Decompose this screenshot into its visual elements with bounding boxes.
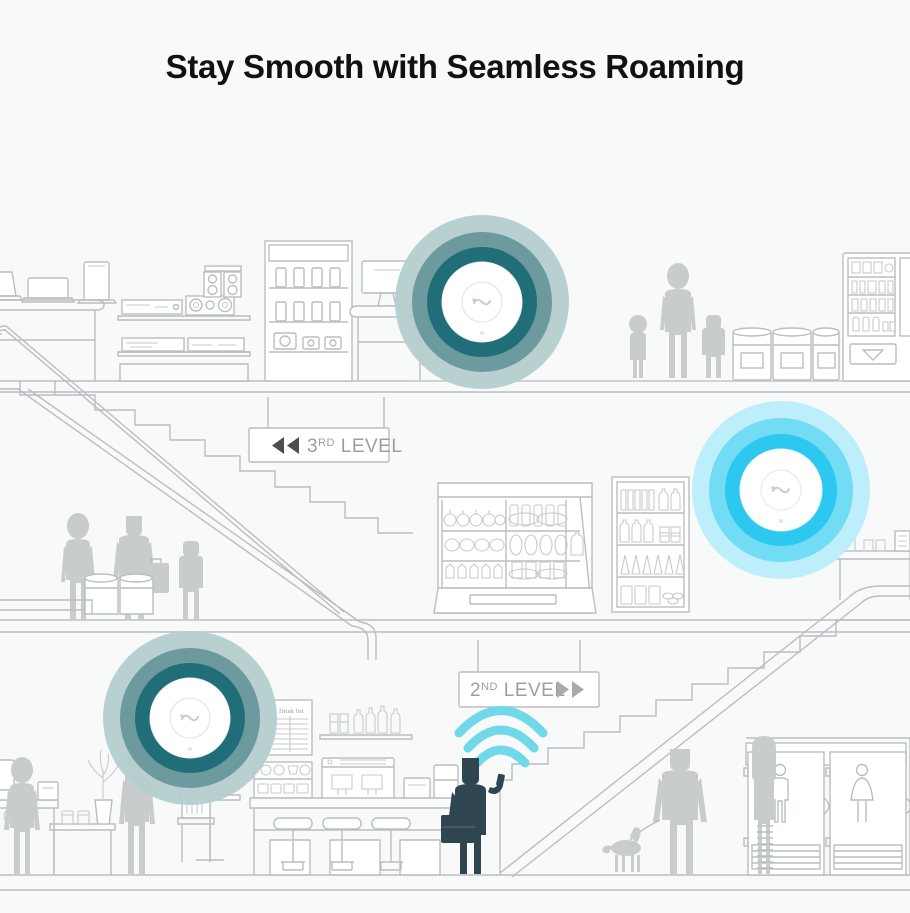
vending-machine <box>843 253 910 381</box>
restroom-door-female[interactable] <box>826 752 910 875</box>
potted-plant <box>88 750 119 826</box>
beverage-shelving <box>612 477 689 612</box>
illustration-page: Stay Smooth with Seamless Roaming .ln { … <box>0 0 910 913</box>
boxed-appliance-shelf <box>120 364 248 381</box>
person-level3-child-left <box>629 315 647 378</box>
ap-first-level[interactable] <box>103 631 277 805</box>
shopping-mall-illustration: .ln { fill:none; stroke:#b9bec2; stroke-… <box>0 0 910 913</box>
audio-equipment-shelf <box>118 266 250 320</box>
ap-third-level[interactable] <box>395 215 569 389</box>
waste-bin <box>733 328 771 380</box>
roaming-user <box>441 711 543 875</box>
drink-list-title: Drink list <box>279 708 304 715</box>
laptop-display-group <box>0 262 116 303</box>
phone-display-cabinet <box>265 241 352 381</box>
sign-third-level[interactable]: 3RD LEVEL <box>249 397 402 462</box>
person-level2-child <box>179 541 203 620</box>
wifi-signal-icon <box>459 711 543 764</box>
waste-bins <box>733 328 839 380</box>
sign-second-level[interactable]: 2ND LEVEL <box>459 640 599 707</box>
cafe-wall-shelf <box>320 706 412 739</box>
person-level1-dog-walker <box>630 749 707 874</box>
waste-bin <box>813 328 839 380</box>
person-level3-child-right <box>702 315 725 378</box>
ap-second-level[interactable] <box>692 401 870 579</box>
level-3-shoppers <box>629 263 725 378</box>
person-level3-adult <box>660 263 696 378</box>
electronics-counter <box>0 300 104 381</box>
waste-bin <box>773 328 811 380</box>
dog-on-leash <box>602 827 641 872</box>
counter-appliances <box>124 340 174 355</box>
register-area <box>404 765 458 798</box>
grocery-display-case <box>434 483 596 613</box>
coffee-cup-station <box>254 762 312 798</box>
